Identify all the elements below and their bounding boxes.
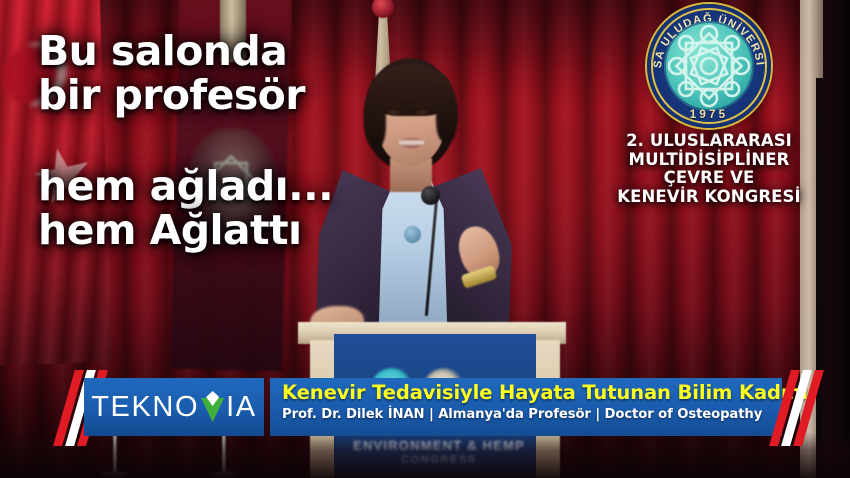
- congress-branding: BURSA ULUDAĞ ÜNİVERSİTESİ: [603, 4, 815, 207]
- necklace-pendant: [404, 226, 421, 243]
- flag-pole-left: [220, 0, 246, 62]
- brand-text-part2: IA: [226, 393, 257, 422]
- accent-stripes-right: [778, 374, 826, 442]
- caption-title: Kenevir Tedavisiyle Hayata Tutunan Bilim…: [282, 382, 772, 404]
- turkish-flag: [0, 0, 112, 366]
- geometric-star-icon: [198, 146, 264, 212]
- brand-text-part1: TEKNO: [91, 393, 199, 422]
- congress-line-3: ÇEVRE VE: [603, 169, 815, 188]
- congress-title: 2. ULUSLARARASI MULTİDİSİPLİNER ÇEVRE VE…: [603, 132, 815, 207]
- congress-line-2: MULTİDİSİPLİNER: [603, 151, 815, 170]
- eye-right: [417, 110, 428, 115]
- lower-third-banner: TEKNO IA Kenevir Tedavisiyle Hayata Tutu…: [0, 374, 850, 442]
- caption-box: Kenevir Tedavisiyle Hayata Tutunan Bilim…: [270, 378, 782, 436]
- hair-side-left: [364, 86, 386, 148]
- university-flag-text: BUÜ: [196, 88, 236, 103]
- seal-emblem: [664, 21, 754, 111]
- caption-subtitle: Prof. Dr. Dilek İNAN | Almanya'da Profes…: [282, 407, 772, 422]
- teknovia-v-mark: [200, 392, 225, 422]
- congress-line-4: KENEVİR KONGRESİ: [603, 188, 815, 207]
- video-frame: BUÜ: [0, 0, 850, 478]
- mouth: [399, 138, 424, 148]
- hair-side-right: [436, 84, 458, 142]
- eye-left: [388, 110, 399, 115]
- star-icon: [29, 142, 98, 211]
- teknovia-logo[interactable]: TEKNO IA: [91, 392, 257, 422]
- islamic-star-pattern-icon: [664, 21, 754, 111]
- university-seal: BURSA ULUDAĞ ÜNİVERSİTESİ: [647, 4, 771, 128]
- seal-year: 1975: [647, 109, 771, 121]
- crescent-icon: [0, 39, 52, 112]
- brand-logo-box[interactable]: TEKNO IA: [84, 378, 264, 436]
- microphone-icon: [421, 186, 440, 205]
- congress-line-1: 2. ULUSLARARASI: [603, 132, 815, 151]
